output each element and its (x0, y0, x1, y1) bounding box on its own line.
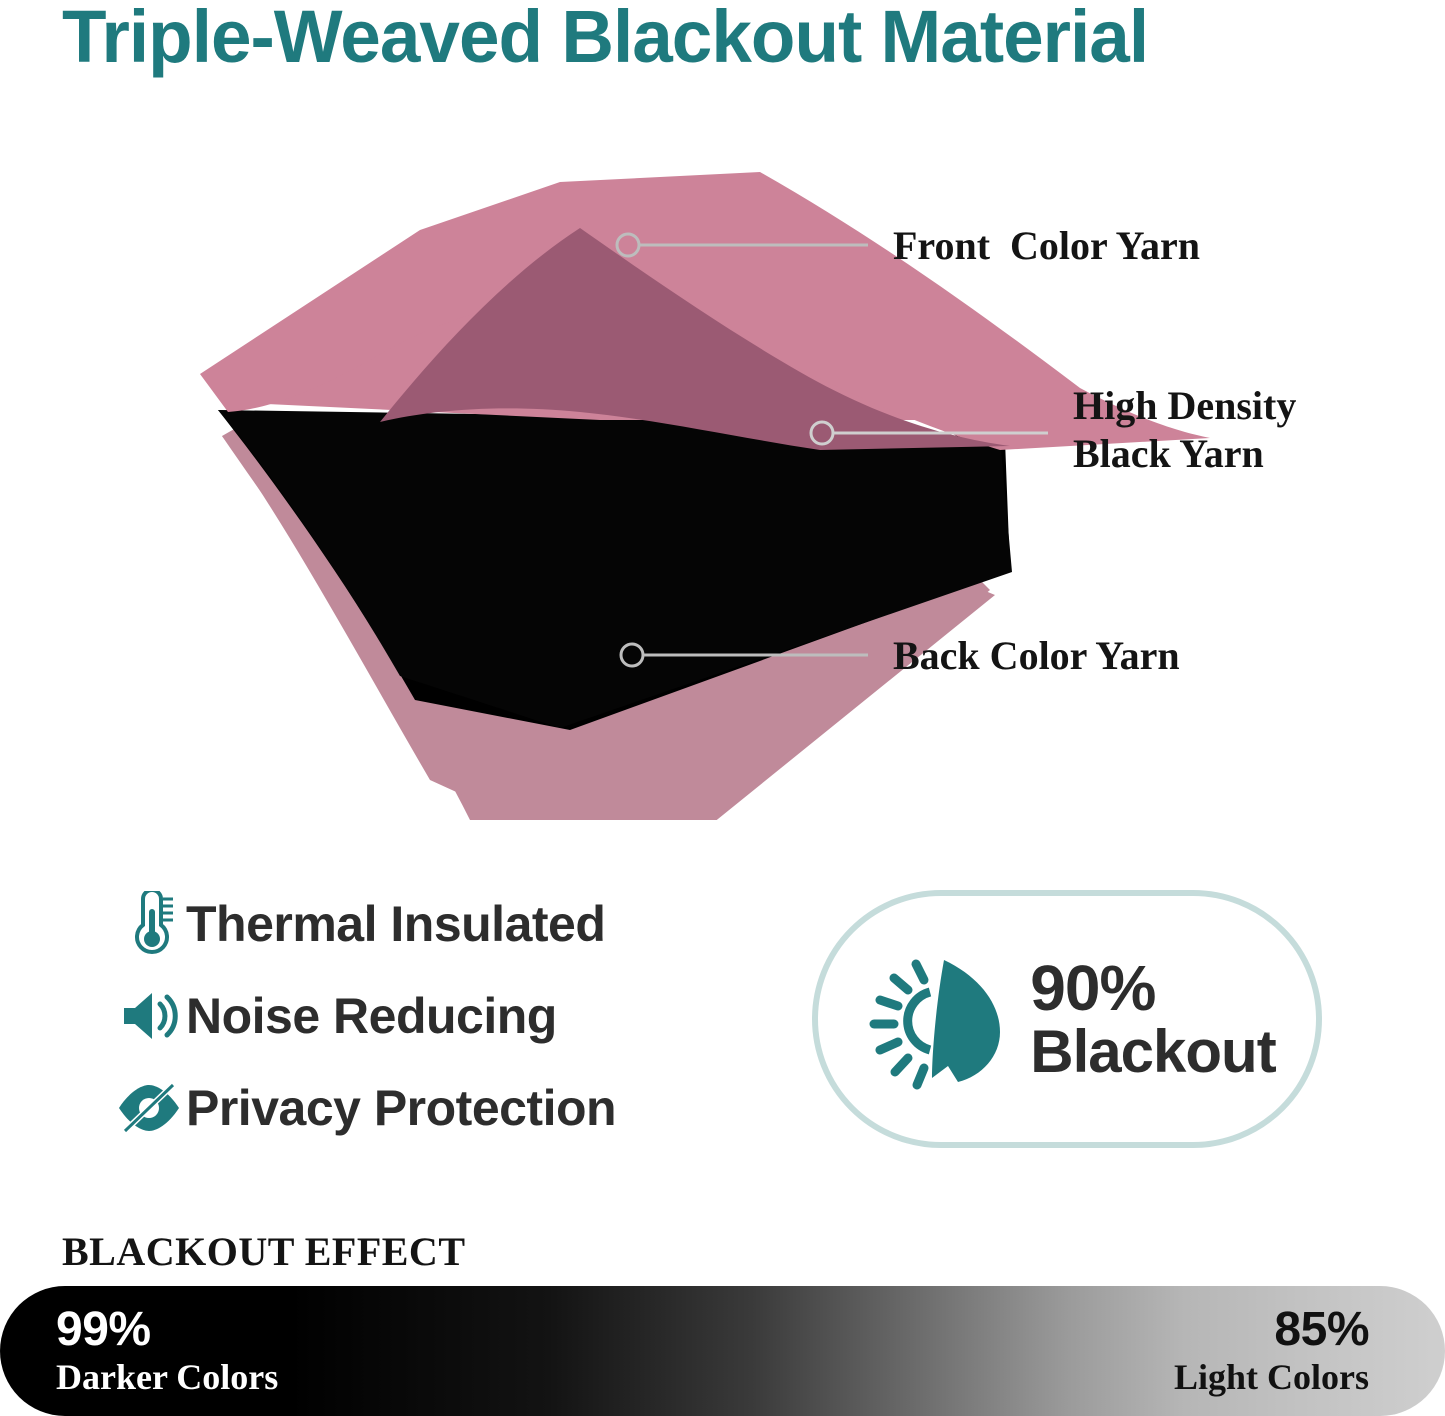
callout-label-front-color-yarn: Front Color Yarn (893, 222, 1200, 270)
effect-left-label: Darker Colors (56, 1356, 476, 1398)
effect-right-group: 85% Light Colors (949, 1304, 1369, 1398)
eye-slash-icon (112, 1082, 186, 1134)
feature-row-thermal-insulated: Thermal Insulated (112, 878, 752, 970)
feature-row-privacy-protection: Privacy Protection (112, 1062, 752, 1154)
feature-label-noise-reducing: Noise Reducing (186, 987, 557, 1045)
feature-label-thermal-insulated: Thermal Insulated (186, 895, 605, 953)
blackout-effect-title: BLACKOUT EFFECT (62, 1228, 466, 1275)
effect-right-percent: 85% (949, 1304, 1369, 1356)
thermometer-icon (112, 891, 186, 957)
feature-list: Thermal Insulated Noise Reducing Privacy… (112, 878, 752, 1154)
callout-label-high-density-black-yarn: High Density Black Yarn (1073, 382, 1296, 478)
page-title: Triple-Weaved Blackout Material (62, 0, 1382, 80)
feature-row-noise-reducing: Noise Reducing (112, 970, 752, 1062)
effect-right-label: Light Colors (949, 1356, 1369, 1398)
badge-word: Blackout (1030, 1021, 1275, 1082)
badge-text-block: 90% Blackout (1030, 956, 1275, 1082)
badge-percent: 90% (1030, 956, 1275, 1021)
effect-left-group: 99% Darker Colors (56, 1304, 476, 1398)
blackout-percentage-badge: 90% Blackout (812, 890, 1322, 1148)
sun-blocked-icon (858, 944, 1008, 1094)
callout-label-back-color-yarn: Back Color Yarn (893, 632, 1180, 680)
feature-label-privacy-protection: Privacy Protection (186, 1079, 616, 1137)
effect-left-percent: 99% (56, 1304, 476, 1356)
speaker-icon (112, 987, 186, 1045)
blackout-effect-gradient-bar: 99% Darker Colors 85% Light Colors (0, 1286, 1445, 1416)
layer-high-density-black-yarn-sheet (218, 410, 1012, 728)
